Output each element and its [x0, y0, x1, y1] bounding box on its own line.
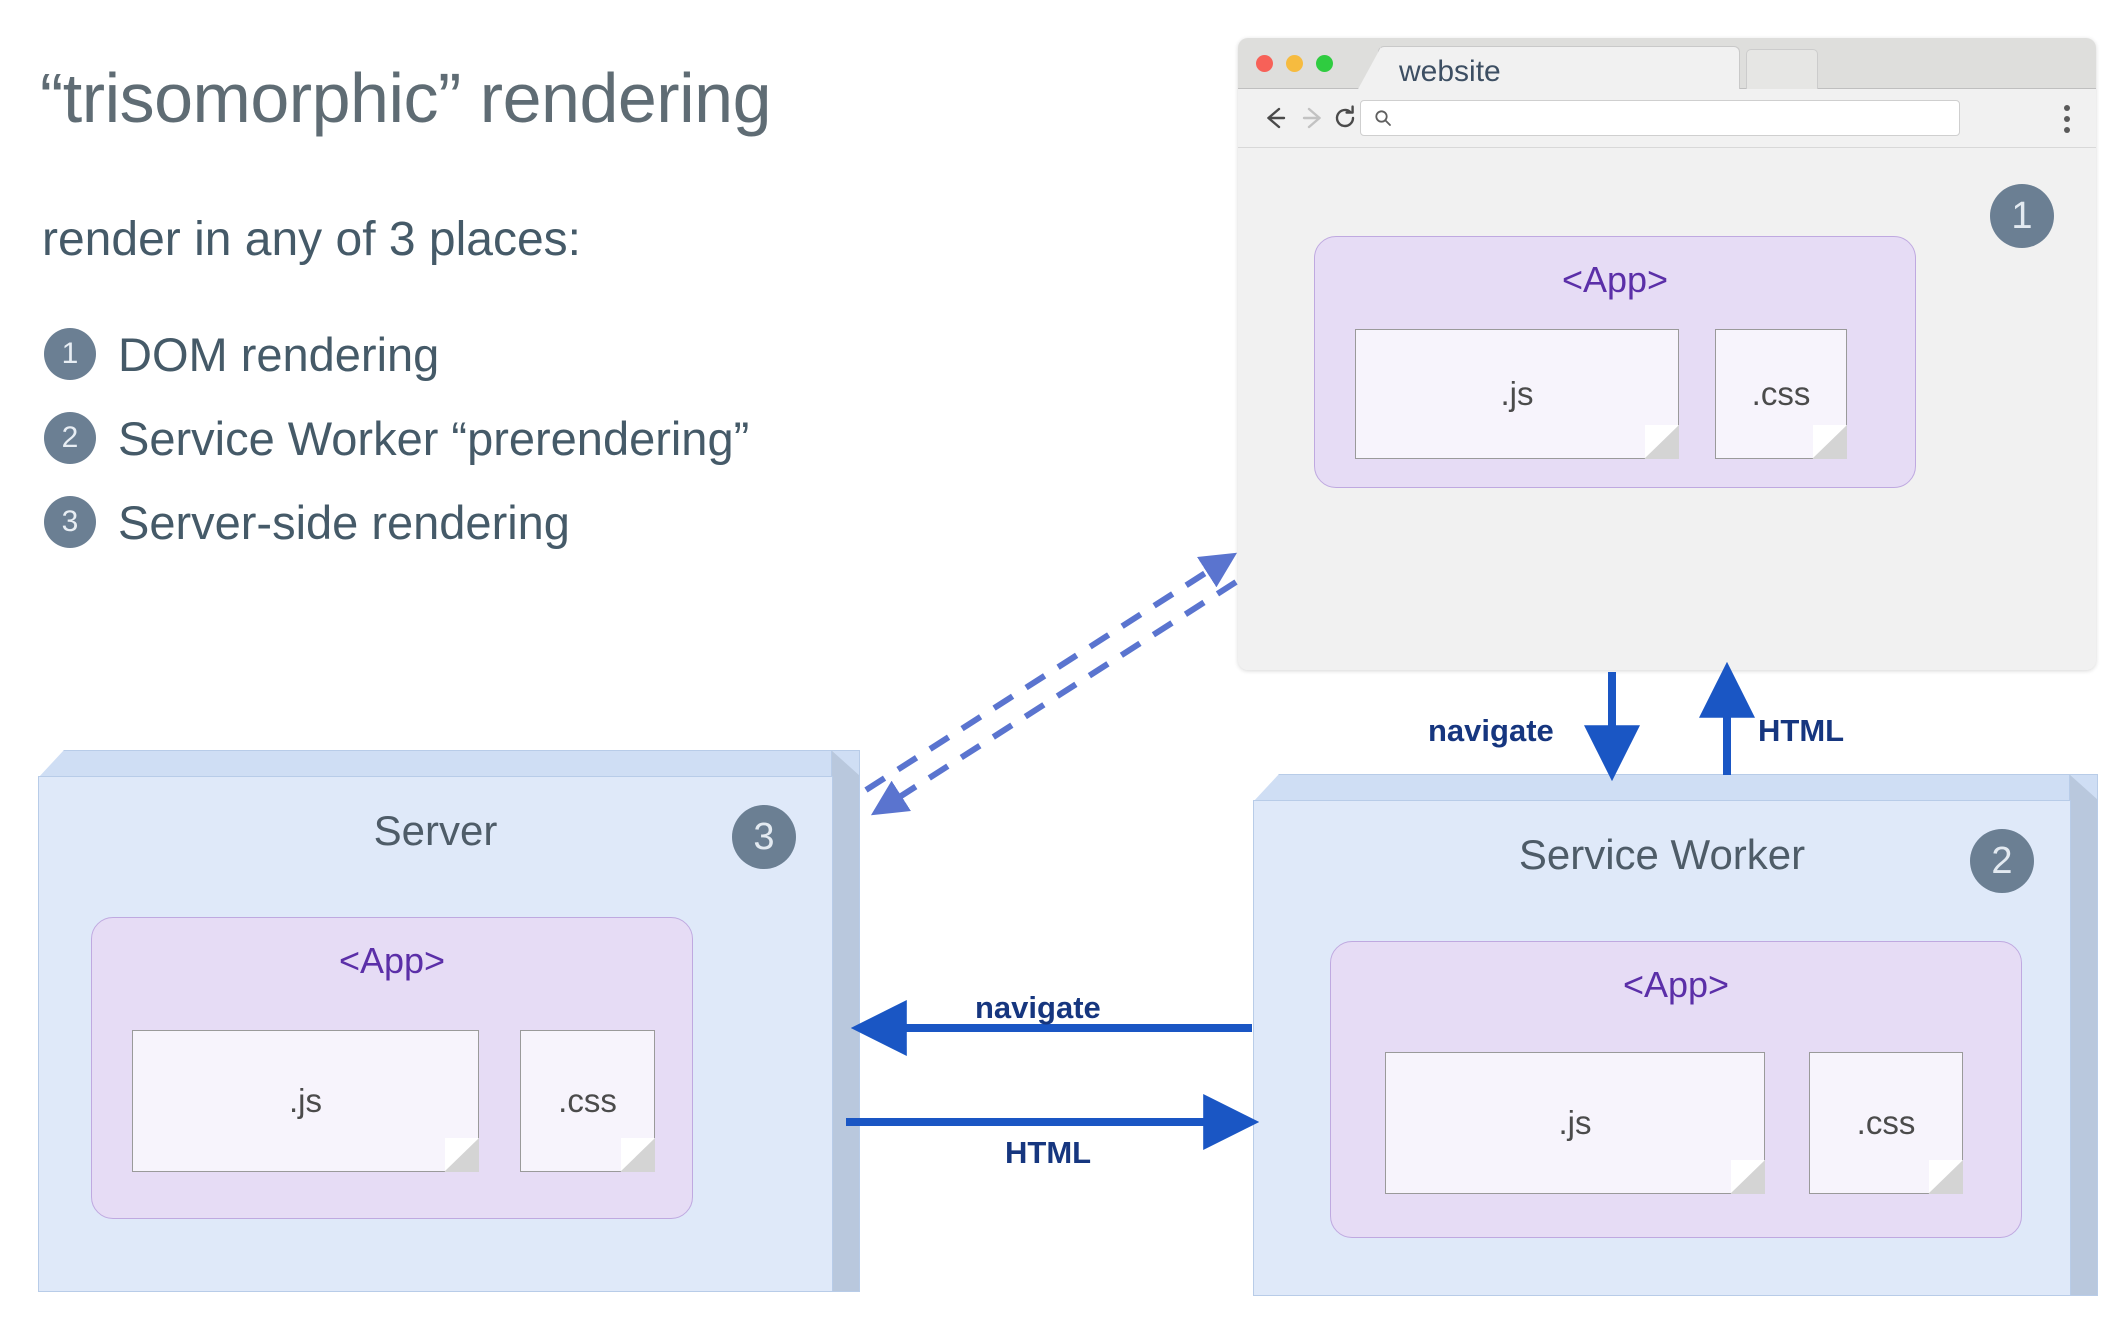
browser-viewport: 1 <App> .js .css [1238, 148, 2096, 670]
service-worker-title: Service Worker [1254, 831, 2070, 879]
arrow-label-navigate-down: navigate [1428, 713, 1554, 749]
js-file-label: .js [1356, 375, 1678, 413]
window-traffic-lights [1256, 55, 1333, 72]
server-box-top-face [38, 750, 860, 778]
js-file-icon: .js [132, 1030, 479, 1172]
list-item: 2 Service Worker “prerendering” [44, 396, 1044, 480]
badge-number: 1 [1990, 184, 2054, 248]
css-file-label: .css [521, 1082, 654, 1120]
search-icon [1373, 108, 1393, 128]
rendering-places-list: 1 DOM rendering 2 Service Worker “preren… [44, 312, 1044, 564]
app-container-server: <App> .js .css [91, 917, 693, 1219]
new-tab-placeholder[interactable] [1746, 49, 1818, 90]
list-item-label-1: DOM rendering [118, 327, 439, 382]
dashed-arrow-browser-to-server [876, 582, 1236, 812]
arrow-label-navigate-left: navigate [975, 990, 1101, 1026]
back-arrow-icon[interactable] [1260, 103, 1290, 133]
diagram-canvas: “trisomorphic” rendering render in any o… [0, 0, 2108, 1328]
forward-arrow-icon [1298, 103, 1328, 133]
overflow-menu-icon[interactable] [2063, 105, 2070, 133]
maximize-window-icon[interactable] [1316, 55, 1333, 72]
app-label: <App> [1331, 964, 2021, 1006]
page-title: “trisomorphic” rendering [40, 58, 771, 138]
list-bullet-2: 2 [44, 412, 96, 464]
browser-step-badge: 1 [1990, 184, 2054, 248]
service-worker-box: Service Worker 2 <App> .js .css [1253, 774, 2096, 1294]
list-item-label-3: Server-side rendering [118, 495, 570, 550]
app-container-sw: <App> .js .css [1330, 941, 2022, 1238]
dashed-arrow-server-to-browser [866, 556, 1232, 790]
url-input[interactable] [1360, 100, 1960, 136]
sw-box-side-face [2069, 774, 2098, 1296]
app-label: <App> [1315, 259, 1915, 301]
sw-box-top-face [1253, 774, 2098, 802]
js-file-icon: .js [1385, 1052, 1765, 1194]
close-window-icon[interactable] [1256, 55, 1273, 72]
server-box-side-face [831, 750, 860, 1292]
server-title: Server [39, 807, 832, 855]
js-file-label: .js [1386, 1104, 1764, 1142]
browser-window: website [1238, 38, 2096, 670]
sw-step-badge: 2 [1970, 829, 2034, 893]
browser-toolbar [1238, 89, 2096, 148]
browser-tab[interactable]: website [1378, 46, 1740, 90]
css-file-icon: .css [520, 1030, 655, 1172]
css-file-label: .css [1810, 1104, 1962, 1142]
list-item: 1 DOM rendering [44, 312, 1044, 396]
list-item: 3 Server-side rendering [44, 480, 1044, 564]
list-item-label-2: Service Worker “prerendering” [118, 411, 749, 466]
arrow-label-html-up: HTML [1758, 713, 1844, 749]
browser-tab-label: website [1399, 55, 1501, 89]
reload-icon[interactable] [1330, 103, 1360, 133]
app-container-browser: <App> .js .css [1314, 236, 1916, 488]
server-box-front-face: Server 3 <App> .js .css [38, 776, 833, 1292]
list-bullet-3: 3 [44, 496, 96, 548]
js-file-icon: .js [1355, 329, 1679, 459]
sw-box-front-face: Service Worker 2 <App> .js .css [1253, 800, 2071, 1296]
app-label: <App> [92, 940, 692, 982]
js-file-label: .js [133, 1082, 478, 1120]
server-box: Server 3 <App> .js .css [38, 750, 858, 1290]
list-bullet-1: 1 [44, 328, 96, 380]
css-file-icon: .css [1809, 1052, 1963, 1194]
css-file-icon: .css [1715, 329, 1847, 459]
arrow-label-html-right: HTML [1005, 1135, 1091, 1171]
server-step-badge: 3 [732, 805, 796, 869]
minimize-window-icon[interactable] [1286, 55, 1303, 72]
page-subtitle: render in any of 3 places: [42, 212, 581, 267]
browser-titlebar: website [1238, 38, 2096, 89]
css-file-label: .css [1716, 375, 1846, 413]
